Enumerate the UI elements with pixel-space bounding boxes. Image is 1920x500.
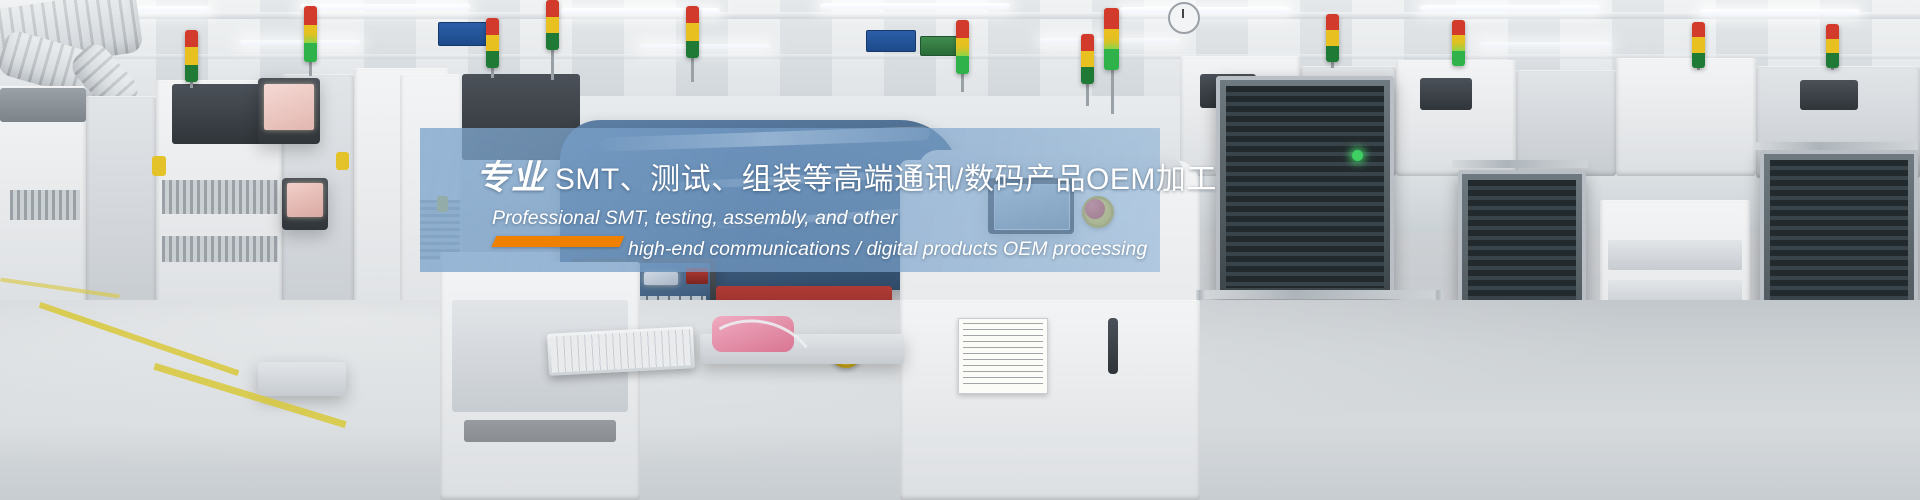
operator-keyboard[interactable]	[547, 326, 695, 376]
pcb-magazine-rack	[1216, 76, 1394, 298]
floor-step-platform	[258, 362, 346, 396]
workbench-drawer	[1608, 240, 1742, 270]
tower-light	[1104, 8, 1119, 70]
tower-light	[1081, 34, 1094, 84]
machine-front-vent	[464, 420, 616, 442]
tower-light	[304, 6, 317, 62]
hero-headline: 专业 SMT、测试、组装等高端通讯/数码产品OEM加工	[476, 158, 1217, 200]
machine-handle[interactable]	[1108, 318, 1118, 374]
background-machine	[1616, 58, 1756, 176]
tower-light	[956, 20, 969, 74]
overhead-sign	[438, 22, 492, 46]
touchscreen-display[interactable]	[264, 84, 314, 130]
wall-clock	[1168, 2, 1200, 34]
control-panel-display[interactable]	[644, 272, 678, 285]
tower-light	[546, 0, 559, 50]
touchscreen-display[interactable]	[287, 183, 323, 217]
aluminium-frame-rail	[1452, 160, 1588, 168]
machine-display-bezel	[1800, 80, 1858, 110]
ceiling-light	[300, 4, 470, 10]
ceiling-light	[820, 3, 1010, 9]
component-feeder-bank	[162, 180, 278, 214]
aluminium-frame-rail	[1196, 290, 1442, 299]
component-feeder-bank	[10, 190, 80, 220]
ceiling-light	[1120, 7, 1290, 13]
tower-light	[185, 30, 198, 82]
machine-display-bezel	[1420, 78, 1472, 110]
magazine-slots	[1226, 86, 1384, 288]
ceiling-beam	[0, 12, 1920, 19]
hero-subtitle: Professional SMT, testing, assembly, and…	[492, 203, 1192, 265]
pick-and-place-machine	[86, 96, 156, 312]
banner-hero: 专业 SMT、测试、组装等高端通讯/数码产品OEM加工 Professional…	[0, 0, 1920, 500]
reflow-oven-front	[900, 300, 1200, 500]
component-feeder-bank	[162, 236, 278, 262]
ceiling-light	[1480, 42, 1610, 47]
ceiling-light	[1420, 5, 1600, 11]
hero-headline-emphasis: 专业	[476, 159, 546, 197]
tower-light	[486, 18, 499, 68]
overhead-sign	[866, 30, 916, 52]
tower-light	[1326, 14, 1339, 62]
keyboard-keys[interactable]	[550, 329, 692, 372]
tower-light	[1826, 24, 1839, 68]
rack-status-led	[1352, 150, 1363, 161]
ceiling-light	[640, 44, 770, 49]
aluminium-frame-rail	[1754, 142, 1918, 150]
tower-light	[686, 6, 699, 58]
hero-headline-rest: SMT、测试、组装等高端通讯/数码产品OEM加工	[546, 163, 1217, 196]
tower-light	[1692, 22, 1705, 68]
machine-hood	[0, 88, 86, 122]
hero-subtitle-line-2: high-end communications / digital produc…	[492, 234, 1192, 265]
hero-subtitle-line-1: Professional SMT, testing, assembly, and…	[492, 203, 1192, 234]
ceiling-light	[240, 40, 360, 45]
tower-light	[1452, 20, 1465, 66]
safety-marking	[336, 152, 349, 170]
safety-marking	[152, 156, 166, 176]
work-instruction-sheet	[958, 318, 1048, 394]
document-text-lines	[963, 323, 1043, 389]
ceiling-light	[1700, 9, 1860, 15]
